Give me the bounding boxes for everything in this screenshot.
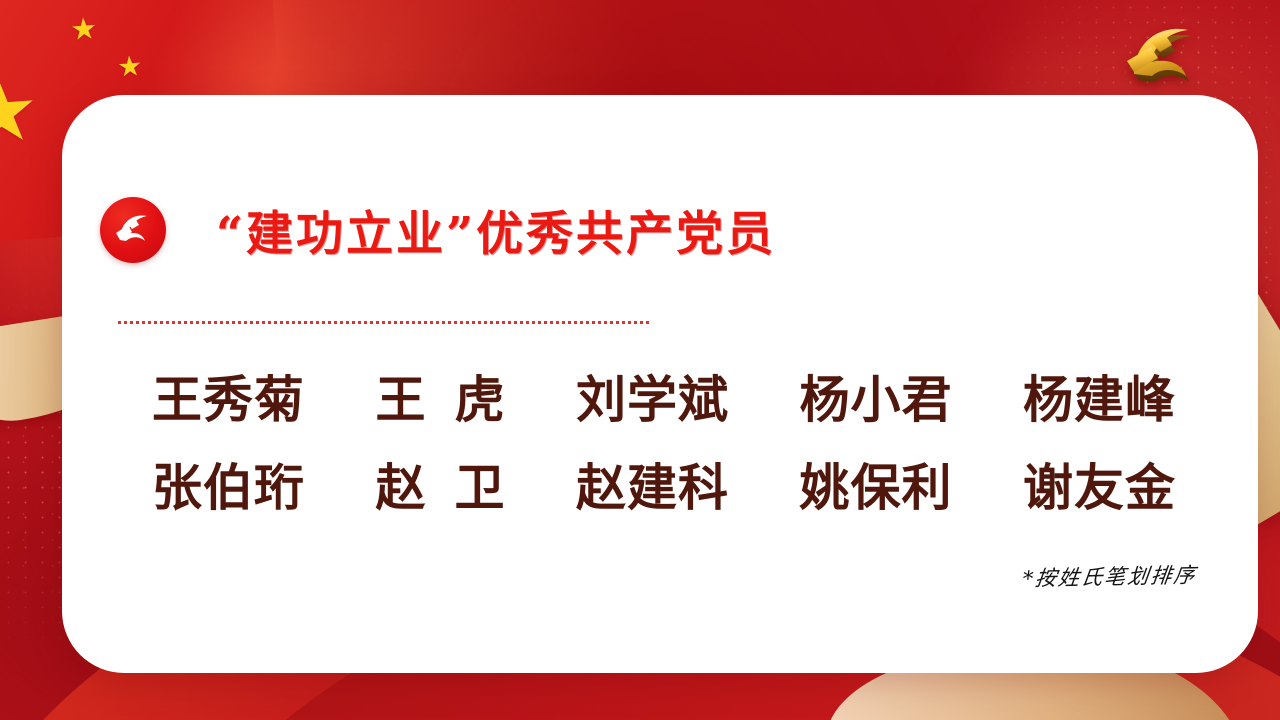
hammer-and-sickle-icon	[100, 197, 166, 263]
honoree-name-list: 王秀菊 王虎 刘学斌 杨小君 杨建峰 张伯珩 赵卫 赵建科 姚保利 谢友金	[118, 360, 1210, 536]
page-title: “建功立业”优秀共产党员	[216, 195, 776, 264]
gold-hammer-and-sickle-icon	[1114, 14, 1218, 104]
sort-order-footnote: *按姓氏笔划排序	[1020, 559, 1198, 593]
honoree-name: 谢友金	[1023, 448, 1176, 520]
honoree-name: 王秀菊	[152, 360, 305, 432]
flag-star-small-1: ★	[70, 14, 99, 46]
honoree-name: 姚保利	[800, 448, 953, 520]
title-row: “建功立业”优秀共产党员	[100, 195, 776, 264]
name-row: 王秀菊 王虎 刘学斌 杨小君 杨建峰	[118, 360, 1210, 432]
flag-star-small-2: ★	[116, 53, 143, 83]
slide-canvas: ★ ★ ★ ★ ★	[0, 0, 1280, 720]
dotted-divider	[118, 321, 650, 324]
flag-star-large: ★	[0, 66, 42, 157]
honoree-name: 杨建峰	[1023, 360, 1176, 432]
honoree-name: 杨小君	[800, 360, 953, 432]
honoree-name: 张伯珩	[152, 448, 305, 520]
content-card: “建功立业”优秀共产党员 王秀菊 王虎 刘学斌 杨小君 杨建峰 张伯珩 赵卫 赵…	[62, 95, 1258, 673]
honoree-name: 赵建科	[576, 448, 729, 520]
honoree-name: 王虎	[376, 360, 506, 432]
honoree-name: 刘学斌	[576, 360, 729, 432]
honoree-name: 赵卫	[376, 448, 506, 520]
name-row: 张伯珩 赵卫 赵建科 姚保利 谢友金	[118, 448, 1210, 520]
